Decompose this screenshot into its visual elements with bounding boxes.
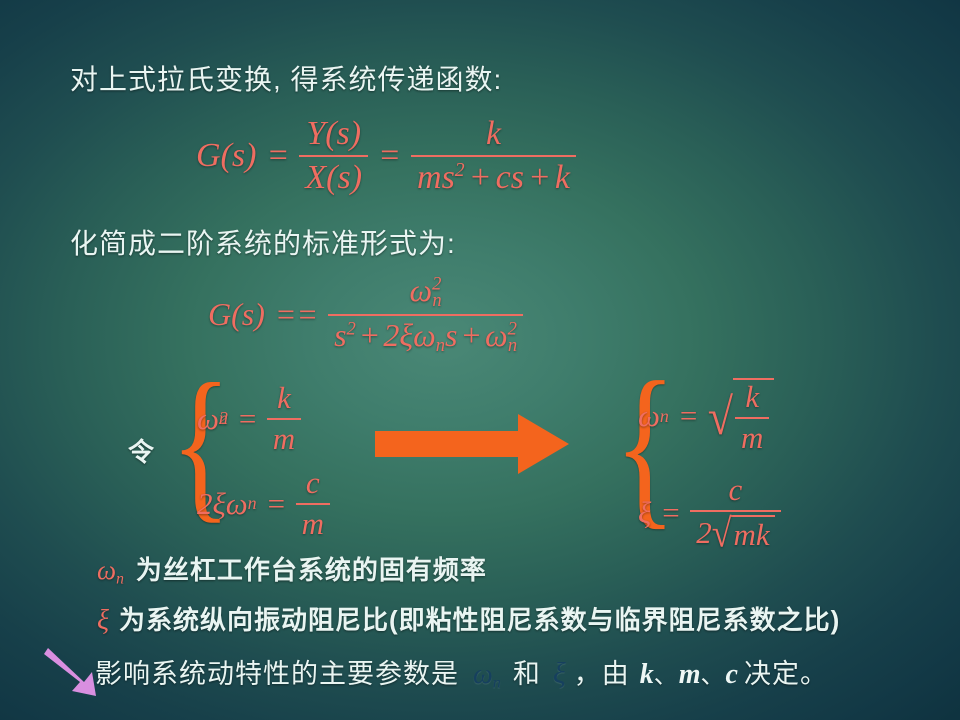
formula2-denominator: s2+2ξωns+ω2n — [328, 318, 523, 356]
left-eq1-bar — [267, 418, 301, 420]
formula1-plus-2: + — [524, 159, 555, 196]
orange-right-arrow-svg — [375, 410, 571, 478]
left-eq1-subscript: n — [219, 408, 228, 429]
right-eq1-subscript: n — [660, 406, 669, 427]
formula2-equals: == — [265, 296, 328, 333]
formula2-den-omega-subscript: n — [436, 335, 445, 356]
left-eq1-omega: ω — [197, 401, 219, 437]
right-eq2-numerator: c — [723, 474, 749, 508]
conclusion-param-m: m — [679, 659, 701, 691]
note-damping-ratio: ξ 为系统纵向振动阻尼比(即粘性阻尼系数与临界阻尼系数之比) — [97, 600, 840, 637]
formula1-frac2-denominator: ms2+cs+k — [411, 159, 576, 196]
conclusion-xi: ξ — [553, 657, 566, 691]
conclusion-param-k: k — [640, 659, 654, 691]
right-eq2-radical: √ mk — [712, 515, 775, 553]
radical-sign-icon-2: √ — [712, 512, 732, 554]
right-eq1-denominator: m — [735, 421, 769, 455]
formula2-den-omega: ω — [413, 317, 436, 353]
formula2-num-subscript: n — [432, 290, 441, 311]
left-eq2-equals: = — [257, 486, 296, 522]
orange-right-arrow — [375, 410, 571, 478]
formula2-den-two: 2 — [383, 317, 399, 353]
note1-symbol-group: ωn — [97, 555, 124, 588]
right-equation-xi: ξ = c 2 √ mk — [638, 474, 781, 552]
right-eq1-radical: √ k m — [708, 378, 775, 454]
conclusion-param-c: c — [726, 659, 738, 691]
right-eq2-denominator: 2 √ mk — [690, 514, 780, 553]
left-eq2-subscript: n — [248, 493, 257, 514]
left-eq2-fraction: c m — [296, 467, 330, 540]
conclusion-omega-group: ωn — [473, 659, 501, 693]
formula1-frac1-numerator: Y(s) — [300, 116, 367, 153]
right-eq2-fraction: c 2 √ mk — [690, 474, 780, 552]
formula1-fraction-2: k ms2+cs+k — [411, 116, 576, 196]
formula2-den-s-exponent: 2 — [347, 318, 356, 339]
right-eq2-equals: = — [651, 495, 690, 531]
left-eq2-xi: ξ — [213, 486, 226, 522]
formula2-den-omega2: ω — [485, 317, 508, 353]
note2-symbol-group: ξ — [97, 605, 109, 637]
right-eq1-equals: = — [669, 398, 708, 434]
conclusion-text-before: 影响系统动特性的主要参数是 — [95, 652, 459, 691]
conclusion-text-after: 决定。 — [744, 652, 828, 691]
formula2-fraction: ω2n s2+2ξωns+ω2n — [328, 274, 523, 355]
left-eq1-denominator: m — [267, 422, 301, 456]
formula2-den-s: s — [334, 317, 346, 353]
note1-text: 为丝杠工作台系统的固有频率 — [136, 550, 487, 587]
formula1-frac1-bar — [299, 155, 368, 157]
standard-form-formula: G(s) == ω2n s2+2ξωns+ω2n — [208, 274, 523, 355]
transfer-function-formula: G(s) = Y(s) X(s) = k ms2+cs+k — [196, 116, 576, 196]
conclusion-omega: ω — [473, 659, 493, 690]
formula1-frac1-denominator: X(s) — [299, 159, 368, 196]
left-eq1-equals: = — [228, 401, 267, 437]
left-equation-omega-squared: ω2n = k m — [197, 382, 301, 455]
right-eq2-bar — [690, 510, 780, 512]
formula2-den-omega2-subscript: n — [508, 335, 517, 356]
note-natural-frequency: ωn 为丝杠工作台系统的固有频率 — [97, 550, 487, 588]
formula2-den-s2: s — [445, 317, 457, 353]
conclusion-separator-1: 、 — [654, 655, 679, 690]
slide-canvas: 对上式拉氏变换, 得系统传递函数: G(s) = Y(s) X(s) = k m… — [0, 0, 960, 720]
formula2-num-omega: ω — [410, 272, 433, 308]
conclusion-separator-2: 、 — [701, 655, 726, 690]
formula1-frac2-numerator: k — [480, 116, 507, 153]
formula1-term-c: c — [496, 159, 511, 196]
formula2-den-plus-1: + — [356, 317, 384, 353]
formula1-term-s2: s — [511, 159, 524, 196]
formula1-equals-1: = — [256, 137, 299, 175]
left-eq1-fraction: k m — [267, 382, 301, 455]
right-eq2-xi: ξ — [638, 495, 651, 531]
left-eq1-numerator: k — [271, 382, 297, 416]
left-eq2-numerator: c — [300, 467, 326, 501]
formula2-frac-bar — [328, 314, 523, 316]
conclusion-omega-subscript: n — [493, 674, 501, 692]
conclusion-line: 影响系统动特性的主要参数是 ωn 和 ξ ，由 k 、 m 、 c 决定。 — [95, 652, 828, 693]
note1-omega-subscript: n — [116, 570, 124, 587]
note1-omega: ω — [97, 555, 116, 585]
let-label: 令 — [128, 432, 155, 469]
formula1-term-k: k — [555, 159, 570, 196]
intro-line-1: 对上式拉氏变换, 得系统传递函数: — [70, 58, 502, 98]
note2-xi: ξ — [97, 605, 109, 636]
right-eq1-radicand: k m — [733, 378, 774, 454]
formula1-equals-2: = — [368, 137, 411, 175]
formula2-den-plus-2: + — [457, 317, 485, 353]
intro-line-2: 化简成二阶系统的标准形式为: — [70, 222, 456, 262]
formula1-lhs: G(s) — [196, 137, 256, 175]
formula1-term-s-exponent: 2 — [455, 159, 465, 181]
left-eq2-two: 2 — [197, 486, 213, 522]
note2-text: 为系统纵向振动阻尼比(即粘性阻尼系数与临界阻尼系数之比) — [119, 600, 840, 637]
left-eq2-omega: ω — [226, 486, 248, 522]
formula2-lhs: G(s) — [208, 296, 265, 333]
formula1-fraction-1: Y(s) X(s) — [299, 116, 368, 195]
left-equation-two-xi-omega: 2ξωn = c m — [197, 467, 330, 540]
formula1-term-s: s — [442, 159, 455, 196]
right-eq2-radicand: mk — [731, 515, 774, 553]
radical-sign-icon: √ — [708, 373, 733, 458]
formula1-frac2-bar — [411, 155, 576, 157]
right-eq2-den-two: 2 — [696, 517, 712, 550]
left-eq2-denominator: m — [296, 507, 330, 541]
right-eq1-bar — [735, 417, 769, 419]
formula2-den-xi: ξ — [399, 317, 413, 353]
formula1-plus-1: + — [465, 159, 496, 196]
formula2-numerator: ω2n — [404, 274, 448, 312]
left-eq2-bar — [296, 503, 330, 505]
formula1-term-m: m — [417, 159, 442, 196]
conclusion-comma-by: ，由 — [574, 652, 630, 691]
right-equation-omega: ωn = √ k m — [638, 378, 774, 454]
conclusion-and: 和 — [513, 652, 541, 691]
right-eq1-numerator: k — [739, 381, 765, 415]
right-eq1-omega: ω — [638, 398, 660, 434]
right-eq1-fraction: k m — [735, 381, 769, 454]
